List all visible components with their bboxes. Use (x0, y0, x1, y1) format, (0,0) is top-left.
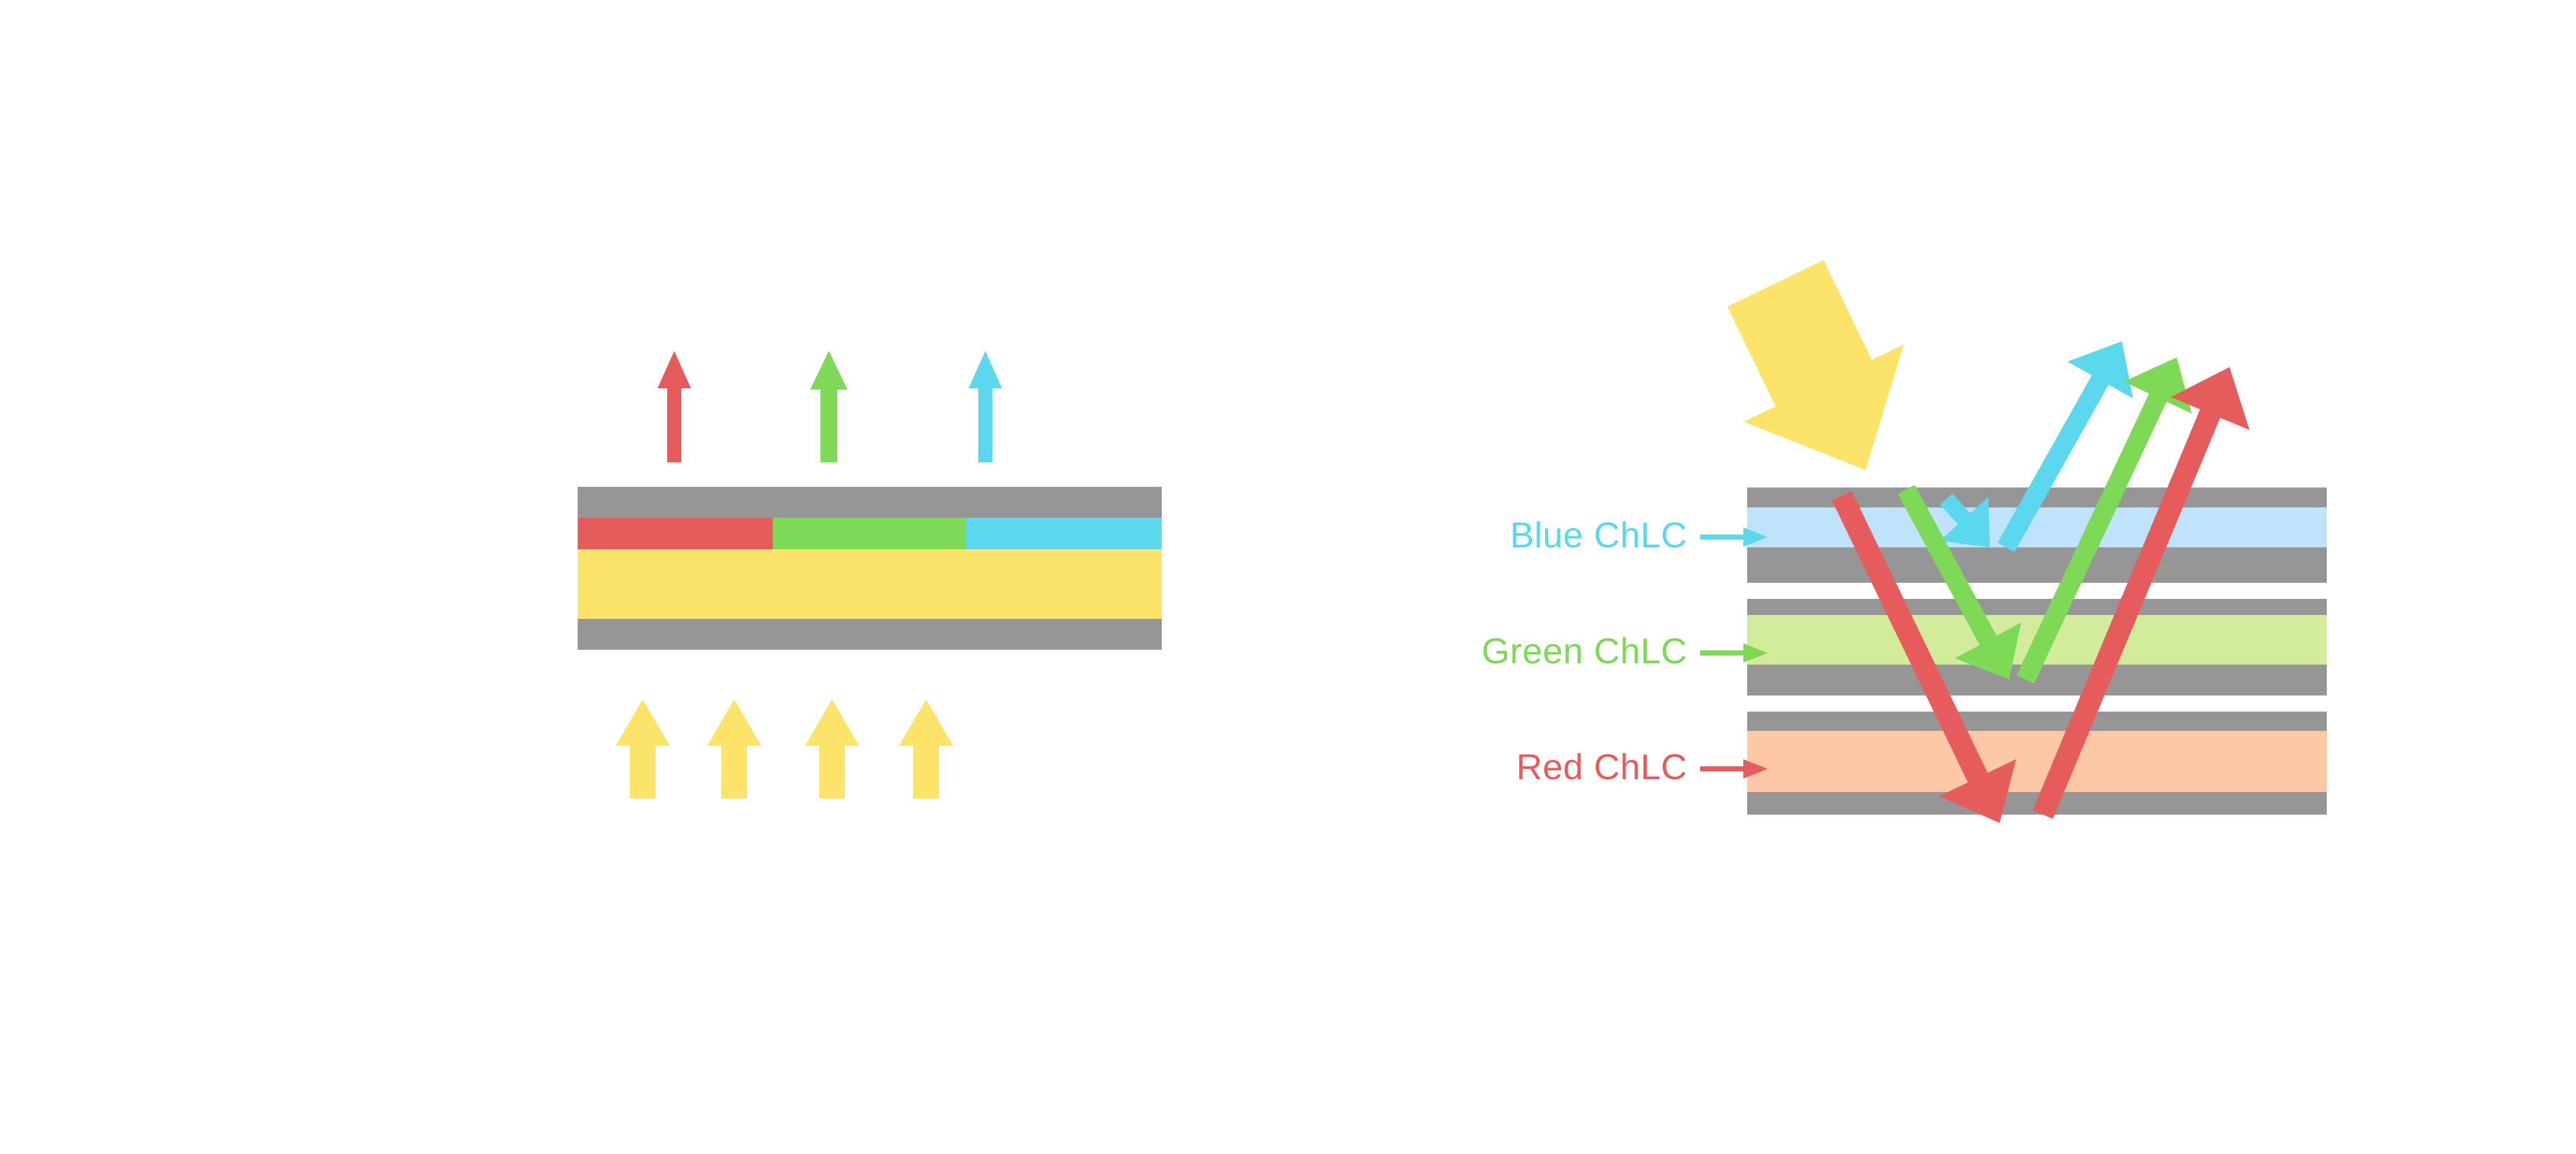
backlight-arrow-2 (707, 699, 761, 799)
right-panel: Blue ChLC Green ChLC Red ChLC (1482, 260, 2327, 823)
backlight-arrow-4 (899, 699, 953, 799)
cyan-emission-arrow (969, 351, 1002, 462)
red-chlc-label: Red ChLC (1517, 746, 1768, 787)
blue-cell-bottom-electrode (1747, 547, 2327, 583)
yellow-backlight-layer (578, 549, 1162, 619)
bottom-gray-electrode (578, 619, 1162, 650)
left-panel (578, 351, 1162, 799)
green-cell-top-electrode (1747, 599, 2327, 615)
left-layer-stack (578, 487, 1162, 650)
chlc-labels-group: Blue ChLC Green ChLC Red ChLC (1482, 515, 1768, 787)
blue-chlc-label-text: Blue ChLC (1510, 515, 1687, 555)
red-emission-arrow (658, 351, 691, 462)
chlc-display-diagram: Blue ChLC Green ChLC Red ChLC (0, 0, 2576, 1154)
white-light-incident-arrow (1727, 260, 1904, 470)
top-gray-electrode (578, 487, 1162, 518)
yellow-backlight-arrows (616, 699, 953, 799)
green-emission-arrow (810, 351, 848, 462)
red-chlc-layer (1747, 731, 2327, 792)
emitted-arrows-group (658, 351, 1002, 462)
red-filter-segment (578, 518, 773, 549)
backlight-arrow-1 (616, 699, 670, 799)
green-chlc-label-text: Green ChLC (1482, 630, 1687, 671)
blue-chlc-layer (1747, 507, 2327, 547)
red-cell-top-electrode (1747, 712, 2327, 731)
cyan-filter-segment (966, 518, 1162, 549)
red-chlc-label-text: Red ChLC (1517, 746, 1687, 787)
red-chlc-cell (1747, 712, 2327, 815)
diagram-root: Blue ChLC Green ChLC Red ChLC (0, 0, 2576, 1154)
green-chlc-label: Green ChLC (1482, 630, 1768, 671)
green-filter-segment (773, 518, 966, 549)
blue-chlc-label: Blue ChLC (1510, 515, 1768, 555)
backlight-arrow-3 (805, 699, 859, 799)
